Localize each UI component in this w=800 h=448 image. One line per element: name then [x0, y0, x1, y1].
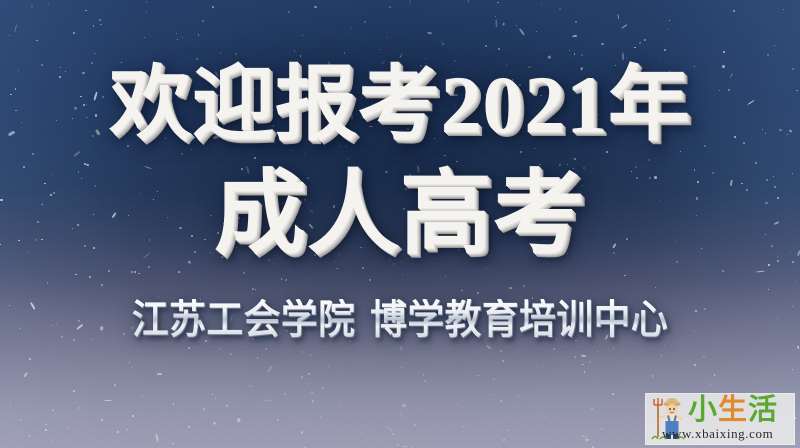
- subtitle-line: 江苏工会学院博学教育培训中心: [132, 299, 668, 341]
- headline-line-2: 成人高考: [214, 168, 586, 260]
- headline-line-1: 欢迎报考2021年: [109, 64, 690, 146]
- poster-canvas: 欢迎报考2021年 成人高考 江苏工会学院博学教育培训中心: [0, 0, 800, 448]
- watermark-char-xiao: 小: [688, 393, 718, 426]
- subtitle-training-center: 博学教育培训中心: [370, 298, 668, 342]
- watermark-url: www.xbaixing.com: [662, 426, 773, 442]
- subtitle-institution: 江苏工会学院: [132, 298, 356, 342]
- watermark-char-huo: 活: [748, 393, 778, 426]
- watermark-badge: 小生活 www.xbaixing.com: [645, 393, 795, 445]
- poster-content: 欢迎报考2021年 成人高考 江苏工会学院博学教育培训中心: [0, 0, 800, 448]
- watermark-brand-text: 小生活: [688, 393, 778, 425]
- watermark-char-sheng: 生: [718, 393, 748, 426]
